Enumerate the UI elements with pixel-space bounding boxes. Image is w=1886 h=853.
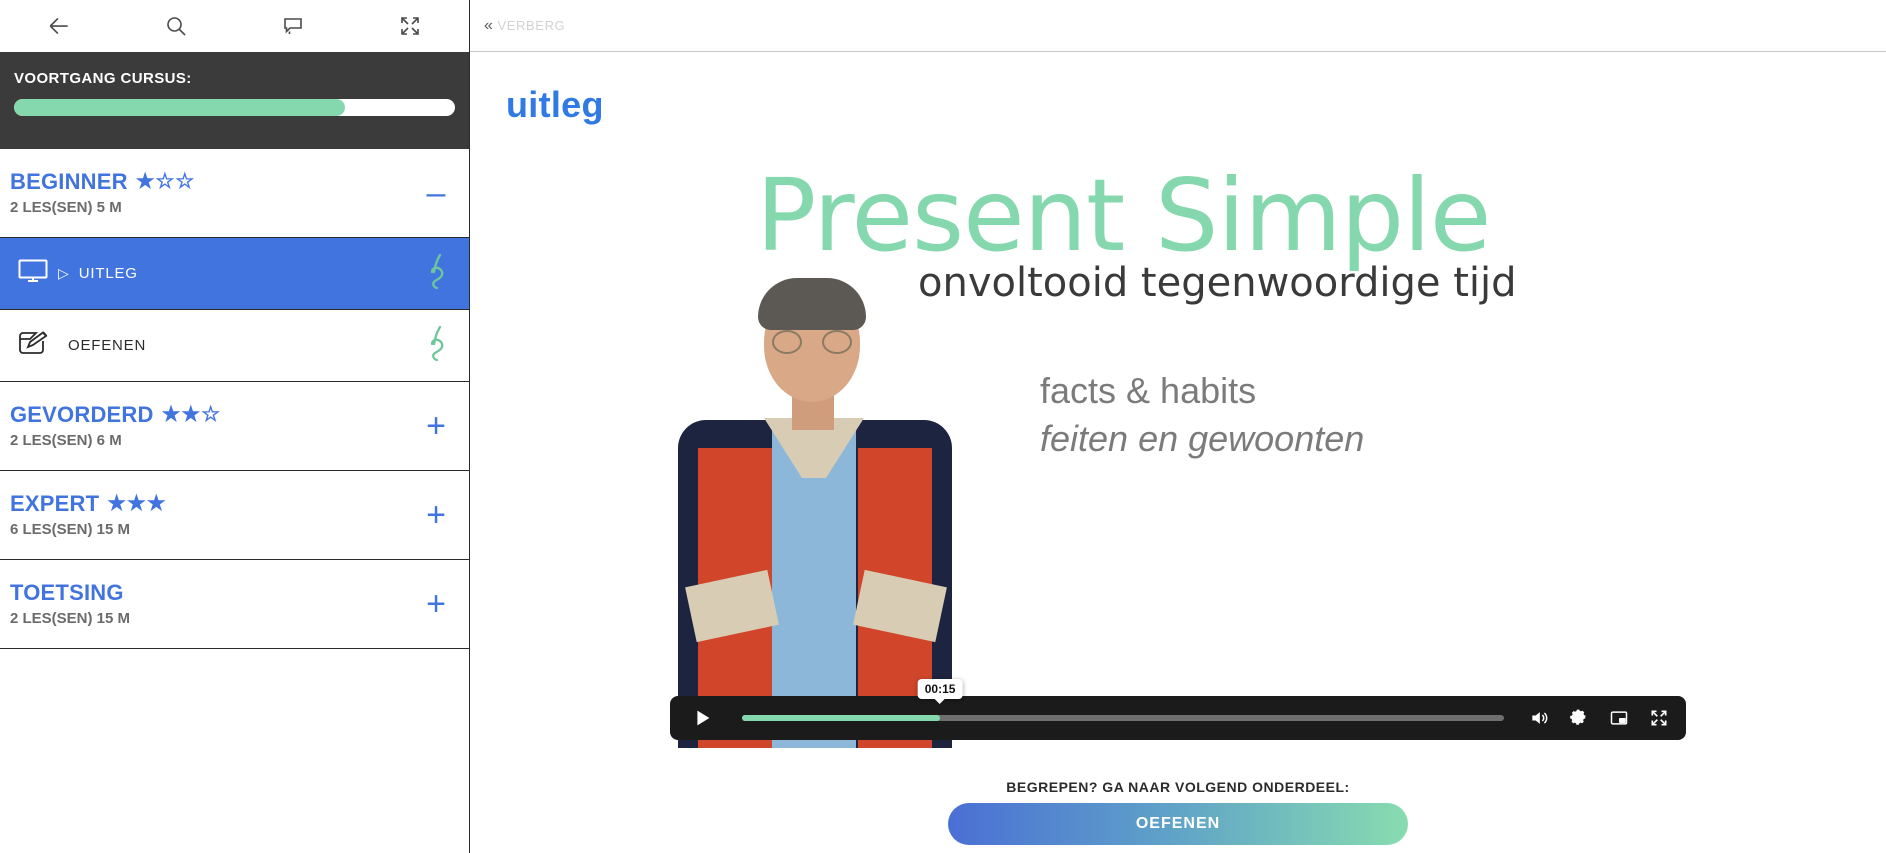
section-header-gevorderd[interactable]: GEVORDERD★★☆2 LES(SEN) 6 M+ xyxy=(0,382,469,470)
section-title: TOETSING xyxy=(10,582,132,604)
fullscreen-icon[interactable] xyxy=(1644,703,1674,733)
picture-in-picture-icon[interactable] xyxy=(1604,703,1634,733)
slide-subtitle: onvoltooid tegenwoordige tijd xyxy=(918,260,1517,306)
section-toggle-icon[interactable]: – xyxy=(421,183,451,203)
section-stars: ★★★ xyxy=(107,493,166,514)
back-arrow-icon[interactable] xyxy=(0,0,117,52)
next-step-cta: BEGREPEN? GA NAAR VOLGEND ONDERDEEL: OEF… xyxy=(948,779,1408,845)
volume-icon[interactable] xyxy=(1524,703,1554,733)
lesson-item-uitleg[interactable]: ▷UITLEG xyxy=(0,237,469,309)
section-title-text: GEVORDERD xyxy=(10,404,154,426)
section-title-text: EXPERT xyxy=(10,493,99,515)
hide-sidebar-button[interactable]: « VERBERG xyxy=(484,18,565,34)
handwriting-squiggle-icon xyxy=(425,251,451,296)
section-header-toetsing[interactable]: TOETSING2 LES(SEN) 15 M+ xyxy=(0,560,469,648)
content-toolbar: « VERBERG xyxy=(470,0,1886,52)
settings-gear-icon[interactable] xyxy=(1564,703,1594,733)
slide-title: Present Simple xyxy=(756,166,1658,266)
progress-track xyxy=(14,99,455,116)
expand-icon[interactable] xyxy=(352,0,469,52)
course-section: GEVORDERD★★☆2 LES(SEN) 6 M+ xyxy=(0,382,469,471)
monitor-icon xyxy=(18,259,48,288)
course-progress: VOORTGANG CURSUS: xyxy=(0,52,469,149)
section-stars: ★☆☆ xyxy=(136,171,195,192)
seek-bar-fill xyxy=(742,715,940,721)
course-sidebar: VOORTGANG CURSUS: BEGINNER★☆☆2 LES(SEN) … xyxy=(0,0,470,853)
play-button[interactable] xyxy=(682,698,722,738)
course-player-app: VOORTGANG CURSUS: BEGINNER★☆☆2 LES(SEN) … xyxy=(0,0,1886,853)
time-tooltip: 00:15 xyxy=(918,679,963,699)
lesson-content-panel: « VERBERG uitleg Present Simple onvoltoo… xyxy=(470,0,1886,853)
section-stars: ★★☆ xyxy=(162,404,221,425)
search-icon[interactable] xyxy=(117,0,234,52)
video-controls: 00:15 xyxy=(670,696,1686,740)
section-header-beginner[interactable]: BEGINNER★☆☆2 LES(SEN) 5 M– xyxy=(0,149,469,237)
progress-fill xyxy=(14,99,345,116)
video-slide: Present Simple onvoltooid tegenwoordige … xyxy=(668,148,1688,748)
section-meta: 6 LES(SEN) 15 M xyxy=(10,521,167,538)
go-to-oefenen-button[interactable]: OEFENEN xyxy=(948,803,1408,845)
content-area: uitleg Present Simple onvoltooid tegenwo… xyxy=(470,52,1886,853)
section-header-expert[interactable]: EXPERT★★★6 LES(SEN) 15 M+ xyxy=(0,471,469,559)
section-toggle-icon[interactable]: + xyxy=(421,594,451,614)
page-title: uitleg xyxy=(506,84,1886,126)
lesson-label: OEFENEN xyxy=(68,337,146,354)
handwriting-squiggle-icon xyxy=(425,323,451,368)
section-toggle-icon[interactable]: + xyxy=(421,505,451,525)
course-section-list: BEGINNER★☆☆2 LES(SEN) 5 M–▷UITLEGOEFENEN… xyxy=(0,149,469,853)
section-meta: 2 LES(SEN) 15 M xyxy=(10,610,132,627)
play-triangle-icon: ▷ xyxy=(58,265,69,282)
lesson-label: UITLEG xyxy=(79,265,138,282)
glasses-icon xyxy=(772,330,852,354)
chat-bubble-icon[interactable] xyxy=(235,0,352,52)
section-title: GEVORDERD★★☆ xyxy=(10,404,221,426)
pencil-square-icon xyxy=(18,330,48,361)
course-section: BEGINNER★☆☆2 LES(SEN) 5 M–▷UITLEGOEFENEN xyxy=(0,149,469,382)
presenter-figure xyxy=(668,278,968,748)
slide-line-dutch: feiten en gewoonten xyxy=(1040,418,1364,460)
cta-label: BEGREPEN? GA NAAR VOLGEND ONDERDEEL: xyxy=(948,779,1408,795)
section-toggle-icon[interactable]: + xyxy=(421,416,451,436)
hide-sidebar-label: VERBERG xyxy=(498,18,566,33)
section-title-text: TOETSING xyxy=(10,582,124,604)
section-meta: 2 LES(SEN) 5 M xyxy=(10,199,195,216)
section-meta: 2 LES(SEN) 6 M xyxy=(10,432,221,449)
video-player[interactable]: Present Simple onvoltooid tegenwoordige … xyxy=(668,148,1688,748)
section-title-text: BEGINNER xyxy=(10,171,128,193)
section-title: BEGINNER★☆☆ xyxy=(10,171,195,193)
course-section: TOETSING2 LES(SEN) 15 M+ xyxy=(0,560,469,649)
double-chevron-left-icon: « xyxy=(484,18,494,34)
slide-line-english: facts & habits xyxy=(1040,370,1256,412)
section-title: EXPERT★★★ xyxy=(10,493,167,515)
hair xyxy=(758,278,866,330)
sidebar-toolbar xyxy=(0,0,469,52)
progress-label: VOORTGANG CURSUS: xyxy=(14,70,455,87)
seek-bar[interactable]: 00:15 xyxy=(742,715,1504,721)
course-section: EXPERT★★★6 LES(SEN) 15 M+ xyxy=(0,471,469,560)
lesson-item-oefenen[interactable]: OEFENEN xyxy=(0,309,469,381)
